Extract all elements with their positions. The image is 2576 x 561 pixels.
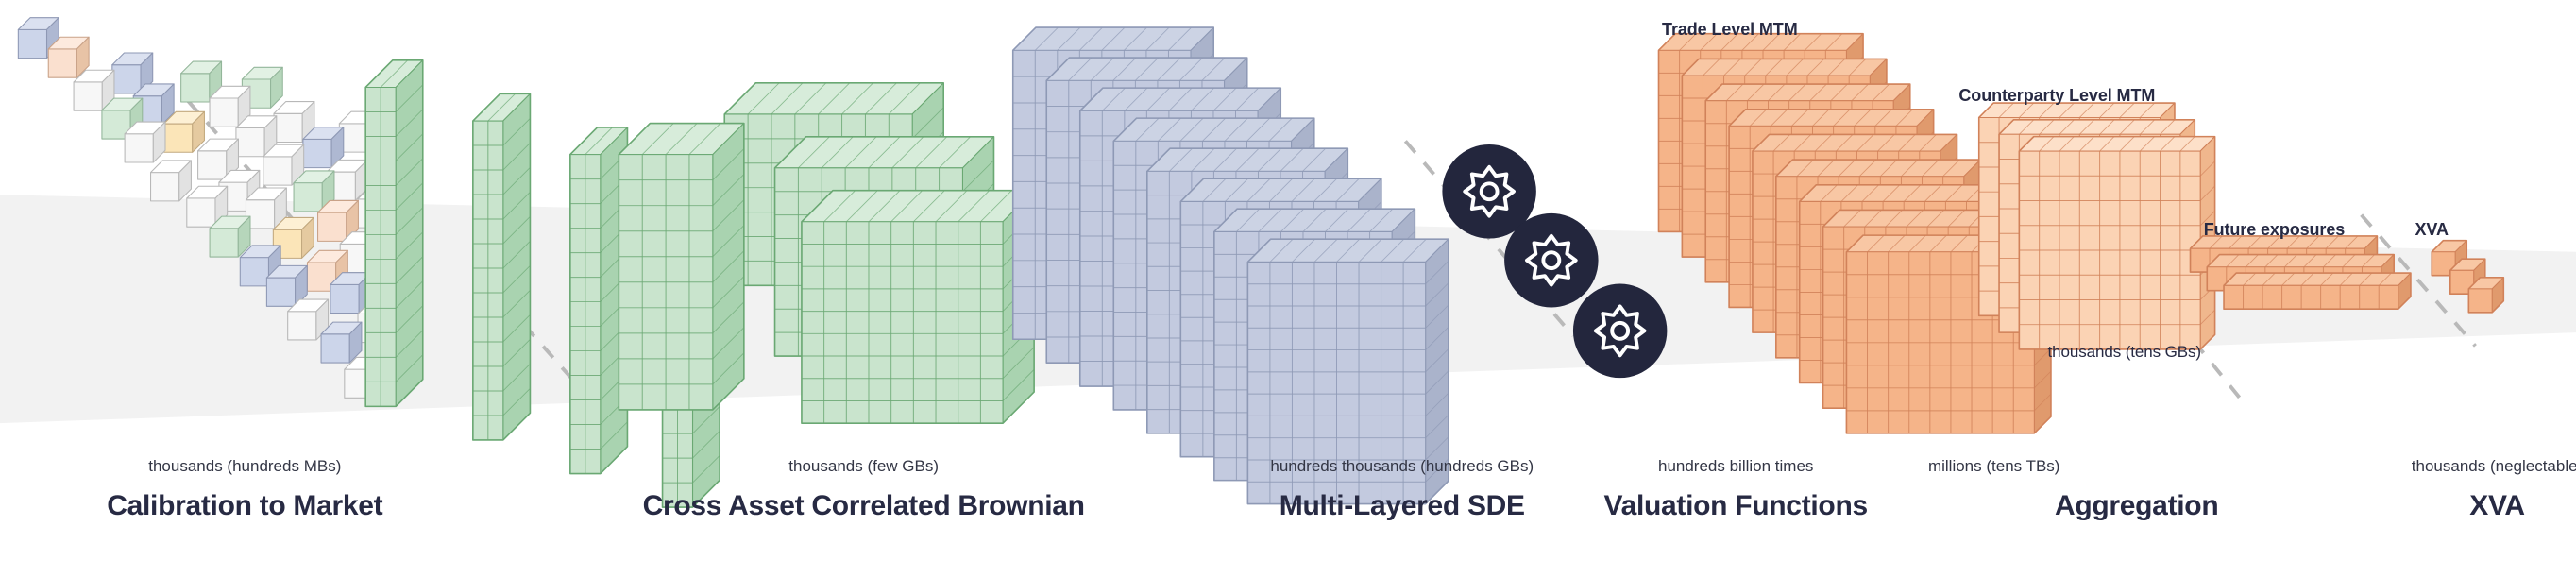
stage-subtitle-calibration: thousands (hundreds MBs) <box>148 457 341 476</box>
gear-icon[interactable] <box>1504 213 1598 308</box>
stage-title-aggregation: Aggregation <box>2055 490 2218 522</box>
label-trade-level-mtm: Trade Level MTM <box>1662 20 1798 40</box>
stage-title-valuation: Valuation Functions <box>1604 490 1868 522</box>
gear-icon[interactable] <box>1573 284 1667 379</box>
stage-subtitle-valuation: hundreds billion times <box>1658 457 1813 476</box>
stage-subtitle-brownian: thousands (few GBs) <box>788 457 939 476</box>
label-tens-gbs: thousands (tens GBs) <box>2048 343 2201 362</box>
stage-title-xva: XVA <box>2469 490 2525 522</box>
stage-subtitle-aggregation: millions (tens TBs) <box>1928 457 2060 476</box>
label-counterparty-level-mtm: Counterparty Level MTM <box>1958 86 2155 106</box>
stage-title-calibration: Calibration to Market <box>107 490 382 522</box>
isometric-pipeline-illustration <box>0 0 2576 561</box>
label-xva-group: XVA <box>2415 220 2449 240</box>
label-future-exposures: Future exposures <box>2204 220 2345 240</box>
stage-subtitle-sde: hundreds thousands (hundreds GBs) <box>1270 457 1534 476</box>
stage-title-brownian: Cross Asset Correlated Brownian <box>643 490 1085 522</box>
diagram-canvas: Trade Level MTMCounterparty Level MTMFut… <box>0 0 2576 561</box>
stage-title-sde: Multi-Layered SDE <box>1280 490 1525 522</box>
stage-subtitle-xva: thousands (neglectable) <box>2412 457 2576 476</box>
sde-blue-slabs <box>1013 27 1449 503</box>
